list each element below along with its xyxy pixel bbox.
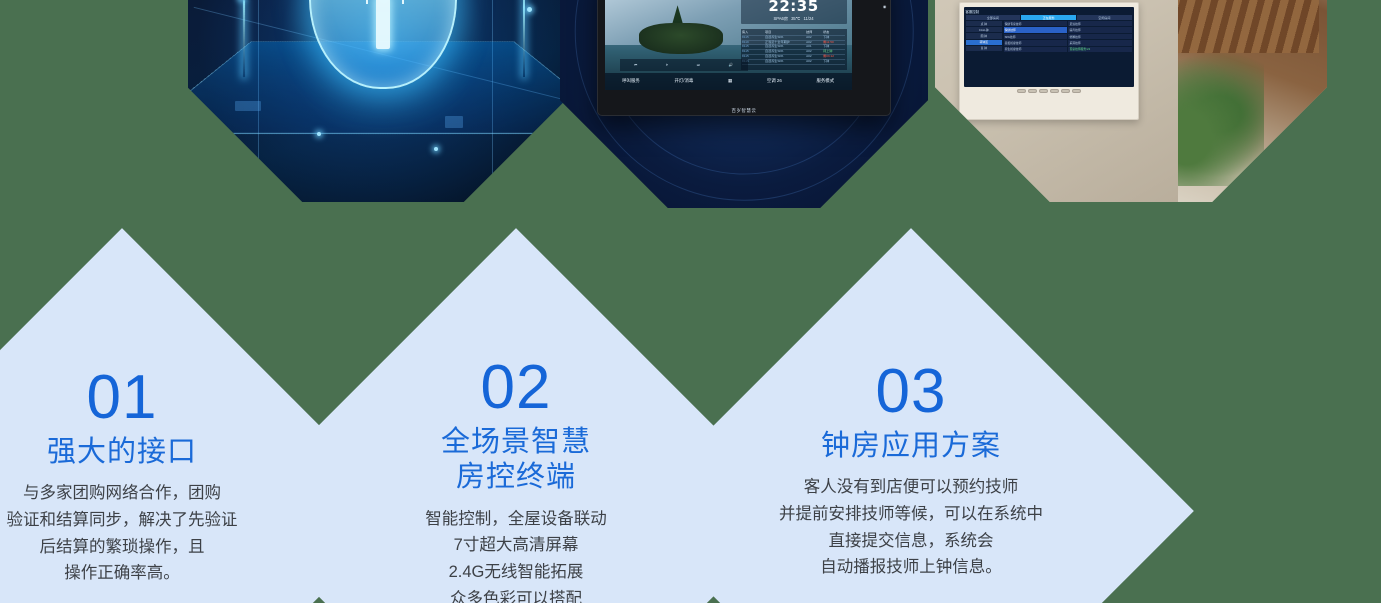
- next-icon: ⏭: [697, 63, 700, 67]
- card-body-line: 后结算的繁琐操作，且: [7, 534, 238, 561]
- panel-left-button: 直 钟: [966, 46, 1003, 51]
- panel-left-buttons: 点 钟 CALL钟 圈 钟 转钟区 直 钟: [966, 21, 1003, 85]
- card-number: 01: [87, 369, 158, 428]
- tablet-service-list: 房入 项目 技师 状态 8115自选养生SPAA02下钟 8119正泡足十全年期…: [741, 29, 847, 69]
- panel-hardware-button: [1061, 89, 1070, 93]
- card-body-line: 众多色彩可以搭配: [425, 586, 607, 603]
- panel-item: 采耳技师: [1068, 40, 1131, 45]
- tablet-screen: 22:35 SPA6房 35℃ 11/24 房入 项目 技师: [605, 0, 852, 90]
- play-icon: ⏵: [666, 63, 668, 67]
- panel-left-button: 圈 钟: [966, 33, 1003, 38]
- card-body-line: 操作正确率高。: [7, 560, 238, 587]
- tablet-device: CSIZBO 22:35 SPA6房 35℃ 11/24: [597, 0, 891, 116]
- tablet-media-controls: ⏮ ⏵ ⏭ 🔊: [620, 59, 748, 71]
- panel-item: 保健专家技师: [1004, 21, 1067, 26]
- panel-left-button: 转钟区: [966, 40, 1003, 45]
- panel-left-button: CALL钟: [966, 27, 1003, 32]
- clock-room: SPA6房: [773, 16, 788, 22]
- card-body-line: 与多家团购网络合作，团购: [6, 480, 237, 507]
- bar-item-call-service: 呼叫服务: [622, 78, 640, 84]
- panel-item: 足浴技师: [1068, 21, 1131, 26]
- feature-card-03[interactable]: 03 钟房应用方案 客人没有到店便可以预约技师 并提前安排技师等候，可以在系统中…: [628, 228, 1194, 603]
- panel-tabs: 全部房间 正在服务 空闲房间: [966, 15, 1132, 20]
- card-heading: 强大的接口: [47, 435, 197, 470]
- card-body: 与多家团购网络合作，团购 验证和结算同步，解决了先验证 后结算的繁琐操作，且 操…: [6, 480, 237, 587]
- tablet-logo: 百岁智慧云: [598, 108, 890, 114]
- panel-title: 客服控制: [966, 9, 1132, 14]
- panel-item: SPA技师: [1004, 34, 1067, 39]
- card-body-line: 并提前安排技师等候，可以在系统中: [779, 501, 1043, 528]
- card-body-line: 智能控制，全屋设备联动: [425, 506, 607, 533]
- bar-item-service-mode: 服务模式: [817, 78, 835, 84]
- panel-screen: 客服控制 全部房间 正在服务 空闲房间 点 钟 CALL钟 圈 钟 转钟区: [964, 7, 1134, 87]
- card-number: 03: [876, 363, 947, 422]
- panel-column-right: 足浴技师 搓背技师 修脚技师 采耳技师 首席技师服务1/2: [1068, 21, 1131, 85]
- panel-left-button: 点 钟: [966, 21, 1003, 26]
- tablet-clock: 22:35 SPA6房 35℃ 11/24: [741, 0, 847, 24]
- panel-hardware-button: [1050, 89, 1059, 93]
- panel-hardware-buttons: [964, 89, 1134, 93]
- tablet-bottom-bar: 呼叫服务 开灯/消毒 ▦ 空调 26 服务模式: [605, 73, 852, 90]
- card-body-line: 客人没有到店便可以预约技师: [779, 474, 1043, 501]
- panel-item: 修脚技师: [1068, 34, 1131, 39]
- panel-tab-all: 全部房间: [966, 15, 1021, 20]
- panel-hardware-button: [1039, 89, 1048, 93]
- panel-hardware-button: [1072, 89, 1081, 93]
- panel-tab-idle: 空闲房间: [1077, 15, 1132, 20]
- panel-column-left: 保健专家技师 保健技师 SPA技师 香薰按摩技师 养生按摩技师: [1004, 21, 1067, 85]
- panel-hardware-button: [1017, 89, 1026, 93]
- apps-grid-icon: ▦: [728, 78, 732, 84]
- panel-item: 香薰按摩技师: [1004, 40, 1067, 45]
- image-diamond-wall-panel: 客服控制 全部房间 正在服务 空闲房间 点 钟 CALL钟 圈 钟 转钟区: [854, 0, 1381, 283]
- tablet-scene: CSIZBO 22:35 SPA6房 35℃ 11/24: [560, 0, 928, 208]
- bar-item-aircon: 空调 26: [767, 78, 782, 84]
- card-heading-line: 全场景智慧: [441, 425, 591, 460]
- clock-time: 22:35: [744, 0, 844, 14]
- card-body-line: 直接提交信息，系统会: [779, 528, 1043, 555]
- service-list-row: 8115自选养生SPAA02下钟: [742, 60, 845, 65]
- panel-item: 养生按摩技师: [1004, 47, 1067, 52]
- card-body: 智能控制，全屋设备联动 7寸超大高清屏幕 2.4G无线智能拓展 众多色彩可以搭配: [425, 506, 607, 603]
- prev-icon: ⏮: [634, 63, 637, 67]
- panel-tab-serving: 正在服务: [1021, 15, 1076, 20]
- panel-item: 搓背技师: [1068, 27, 1131, 32]
- volume-icon: 🔊: [729, 63, 733, 67]
- card-body: 客人没有到店便可以预约技师 并提前安排技师等候，可以在系统中 直接提交信息，系统…: [779, 474, 1043, 581]
- clock-date: 11/24: [803, 16, 813, 22]
- card-number: 02: [481, 359, 552, 418]
- card-heading-line: 房控终端: [441, 460, 591, 495]
- card-body-line: 2.4G无线智能拓展: [425, 559, 607, 586]
- card-heading: 全场景智慧 房控终端: [441, 425, 591, 496]
- card-body-line: 自动播报技师上钟信息。: [779, 554, 1043, 581]
- wall-control-panel: 客服控制 全部房间 正在服务 空闲房间 点 钟 CALL钟 圈 钟 转钟区: [959, 2, 1139, 120]
- bar-item-light: 开灯/消毒: [674, 78, 693, 84]
- panel-item: 保健技师: [1004, 27, 1067, 32]
- card-body-line: 7寸超大高清屏幕: [425, 532, 607, 559]
- card-heading: 钟房应用方案: [821, 429, 1001, 464]
- card-body-line: 验证和结算同步，解决了先验证: [6, 507, 237, 534]
- clock-temperature: 35℃: [791, 16, 800, 22]
- promo-banner: CSIZBO 22:35 SPA6房 35℃ 11/24: [0, 0, 1381, 603]
- panel-hardware-button: [1028, 89, 1037, 93]
- panel-item: 首席技师服务1/2: [1068, 47, 1131, 52]
- corridor-scene: 客服控制 全部房间 正在服务 空闲房间 点 钟 CALL钟 圈 钟 转钟区: [935, 0, 1327, 202]
